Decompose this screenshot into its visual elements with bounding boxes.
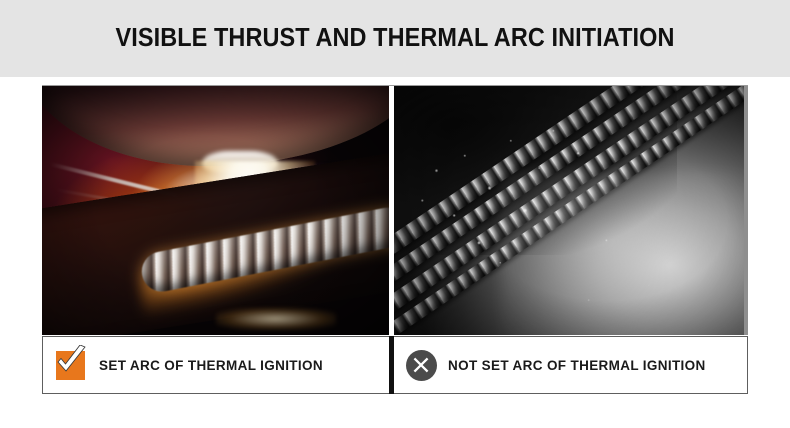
caption-row: SET ARC OF THERMAL IGNITION NOT SET ARC … — [42, 336, 748, 394]
welding-arc-with-clean-bead-photo — [42, 86, 389, 335]
photo-strip — [42, 85, 748, 335]
check-badge — [43, 351, 97, 380]
check-icon — [56, 351, 85, 380]
page-title: VISIBLE THRUST AND THERMAL ARC INITIATIO… — [32, 0, 759, 77]
photo-right-border — [744, 86, 748, 335]
comparison-banner: VISIBLE THRUST AND THERMAL ARC INITIATIO… — [0, 0, 790, 428]
caption-bad-label: NOT SET ARC OF THERMAL IGNITION — [448, 358, 706, 373]
photo-left-vignette — [42, 86, 389, 335]
x-badge — [394, 350, 448, 381]
header-band: VISIBLE THRUST AND THERMAL ARC INITIATIO… — [0, 0, 790, 77]
caption-bad: NOT SET ARC OF THERMAL IGNITION — [394, 336, 748, 394]
caption-good: SET ARC OF THERMAL IGNITION — [42, 336, 389, 394]
cold-spattered-weld-photo — [394, 86, 748, 335]
photo-right-vignette — [394, 86, 748, 335]
x-circle-icon — [406, 350, 437, 381]
caption-good-label: SET ARC OF THERMAL IGNITION — [99, 358, 323, 373]
